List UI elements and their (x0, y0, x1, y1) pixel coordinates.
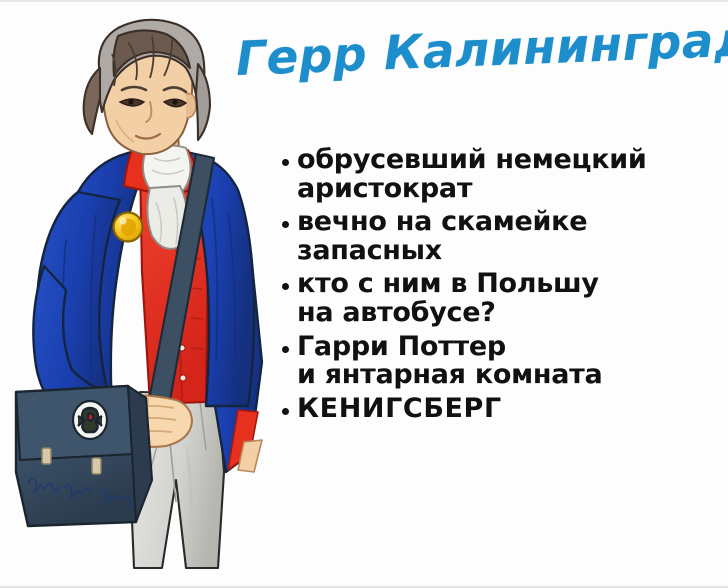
list-item: КЕНИГСБЕРГ (282, 395, 726, 424)
list-item: Гарри Поттер и янтарная комната (282, 333, 726, 390)
messenger-bag (16, 386, 152, 526)
list-item-label: кто с ним в Польшу на автобусе? (297, 270, 599, 327)
meme-image-canvas: Герр Калининград обрусевший немецкий ари… (0, 0, 728, 588)
page-title: Герр Калининград (232, 28, 728, 116)
aristocrat-character-illustration (0, 2, 290, 588)
list-item-label: вечно на скамейке запасных (297, 208, 587, 265)
bullet-dot-icon (282, 283, 289, 290)
bullet-dot-icon (282, 159, 289, 166)
bullet-dot-icon (282, 408, 289, 415)
eagle-emblem-badge (73, 401, 107, 439)
traits-bullet-list: обрусевший немецкий аристократ вечно на … (282, 146, 726, 428)
list-item-label: КЕНИГСБЕРГ (297, 395, 502, 424)
list-item: вечно на скамейке запасных (282, 208, 726, 265)
title-text: Герр Калининград (235, 12, 728, 87)
bullet-dot-icon (282, 221, 289, 228)
list-item: обрусевший немецкий аристократ (282, 146, 726, 203)
list-item: кто с ним в Польшу на автобусе? (282, 270, 726, 327)
bullet-dot-icon (282, 346, 289, 353)
list-item-label: обрусевший немецкий аристократ (297, 146, 646, 203)
brooch-icon (114, 213, 143, 242)
list-item-label: Гарри Поттер и янтарная комната (297, 333, 602, 390)
